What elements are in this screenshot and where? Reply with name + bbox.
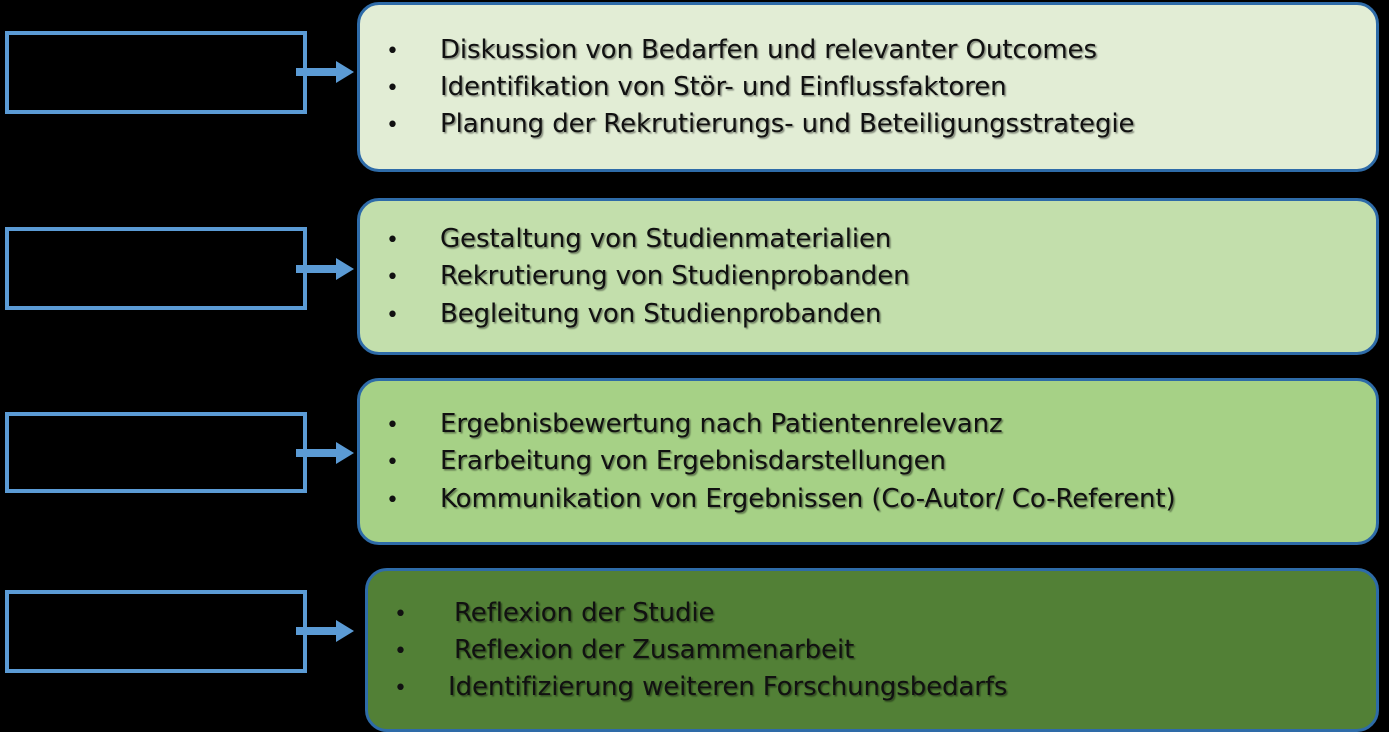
stage-panel-3[interactable]: • Ergebnisbewertung nach Patientenreleva… — [357, 378, 1379, 545]
bullet-marker: • — [390, 678, 448, 700]
bullet-marker: • — [382, 230, 440, 252]
list-item: • Rekrutierung von Studienprobanden — [382, 259, 1376, 293]
bullet-text: Kommunikation von Ergebnissen (Co-Autor/… — [440, 482, 1376, 516]
bullet-marker: • — [382, 305, 440, 327]
bullet-text: Ergebnisbewertung nach Patientenrelevanz — [440, 407, 1376, 441]
bullet-marker: • — [390, 604, 454, 626]
bullet-marker: • — [390, 641, 454, 663]
bullet-marker: • — [382, 267, 440, 289]
stage-box-4[interactable] — [5, 590, 307, 673]
list-item: • Begleitung von Studienprobanden — [382, 297, 1376, 331]
bullet-text: Reflexion der Studie — [454, 596, 1376, 630]
bullet-text: Gestaltung von Studienmaterialien — [440, 222, 1376, 256]
bullet-marker: • — [382, 41, 440, 63]
bullet-marker: • — [382, 415, 440, 437]
stage-box-2-label — [9, 231, 303, 243]
list-item: • Identifikation von Stör- und Einflussf… — [382, 70, 1376, 104]
list-item: • Identifizierung weiteren Forschungsbed… — [390, 670, 1376, 704]
stage-panel-2[interactable]: • Gestaltung von Studienmaterialien • Re… — [357, 198, 1379, 355]
stage-box-3[interactable] — [5, 412, 307, 493]
stage-box-4-label — [9, 594, 303, 606]
stage-box-1[interactable] — [5, 31, 307, 114]
list-item: • Gestaltung von Studienmaterialien — [382, 222, 1376, 256]
list-item: • Ergebnisbewertung nach Patientenreleva… — [382, 407, 1376, 441]
bullet-marker: • — [382, 115, 440, 137]
list-item: • Diskussion von Bedarfen und relevanter… — [382, 33, 1376, 67]
bullet-marker: • — [382, 452, 440, 474]
bullet-text: Begleitung von Studienprobanden — [440, 297, 1376, 331]
process-diagram: • Diskussion von Bedarfen und relevanter… — [0, 0, 1389, 732]
bullet-marker: • — [382, 490, 440, 512]
list-item: • Reflexion der Studie — [390, 596, 1376, 630]
bullet-text: Identifikation von Stör- und Einflussfak… — [440, 70, 1376, 104]
stage-panel-4[interactable]: • Reflexion der Studie • Reflexion der Z… — [365, 568, 1379, 732]
bullet-text: Erarbeitung von Ergebnisdarstellungen — [440, 444, 1376, 478]
stage-panel-1[interactable]: • Diskussion von Bedarfen und relevanter… — [357, 2, 1379, 172]
stage-box-1-label — [9, 35, 303, 47]
stage-box-3-label — [9, 416, 303, 428]
bullet-text: Rekrutierung von Studienprobanden — [440, 259, 1376, 293]
bullet-marker: • — [382, 78, 440, 100]
list-item: • Erarbeitung von Ergebnisdarstellungen — [382, 444, 1376, 478]
list-item: • Planung der Rekrutierungs- und Beteili… — [382, 107, 1376, 141]
list-item: • Reflexion der Zusammenarbeit — [390, 633, 1376, 667]
list-item: • Kommunikation von Ergebnissen (Co-Auto… — [382, 482, 1376, 516]
stage-box-2[interactable] — [5, 227, 307, 310]
bullet-text: Reflexion der Zusammenarbeit — [454, 633, 1376, 667]
bullet-text: Planung der Rekrutierungs- und Beteiligu… — [440, 107, 1376, 141]
bullet-text: Diskussion von Bedarfen und relevanter O… — [440, 33, 1376, 67]
bullet-text: Identifizierung weiteren Forschungsbedar… — [448, 670, 1376, 704]
